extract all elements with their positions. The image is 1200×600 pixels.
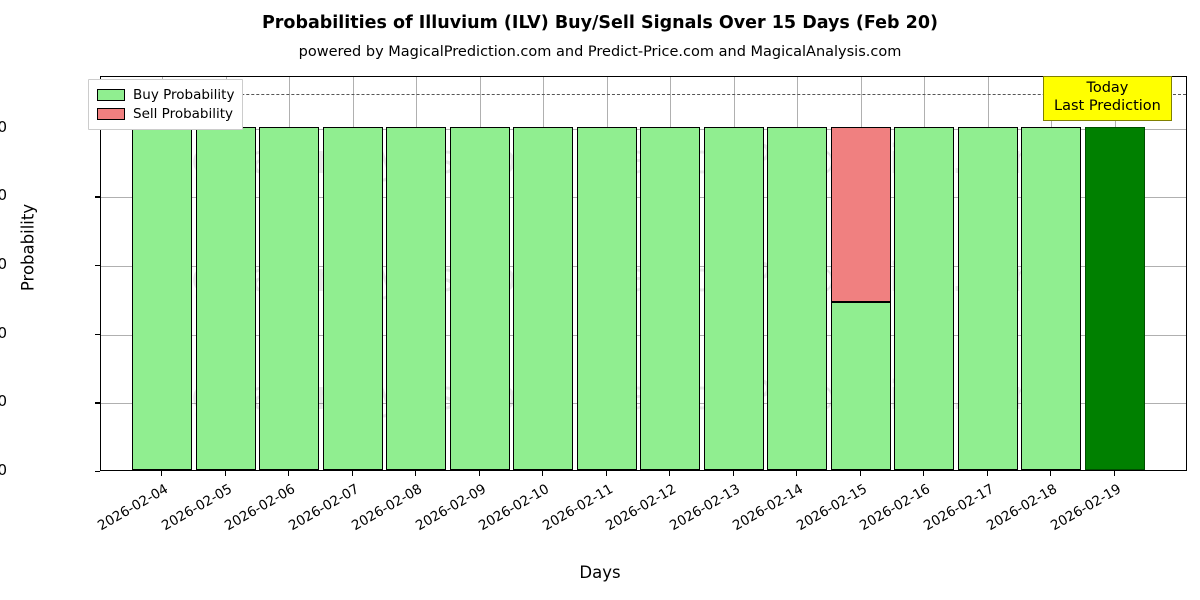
bar-group[interactable] bbox=[1085, 76, 1145, 470]
x-tick-mark bbox=[415, 471, 416, 476]
x-tick-mark bbox=[1114, 471, 1115, 476]
x-tick-mark bbox=[161, 471, 162, 476]
today-annotation-line1: Today bbox=[1054, 80, 1161, 98]
chart-figure: Probabilities of Illuvium (ILV) Buy/Sell… bbox=[0, 0, 1200, 600]
bar-group[interactable] bbox=[132, 76, 192, 470]
y-tick-label: 40 bbox=[0, 324, 7, 342]
x-tick-label: 2026-02-17 bbox=[876, 481, 997, 560]
bar-segment-buy[interactable] bbox=[577, 127, 637, 470]
x-tick-label: 2026-02-18 bbox=[939, 481, 1060, 560]
x-tick-mark bbox=[669, 471, 670, 476]
x-tick-mark bbox=[923, 471, 924, 476]
bar-segment-buy[interactable] bbox=[196, 127, 256, 470]
bar-segment-buy[interactable] bbox=[831, 302, 891, 470]
x-tick-label: 2026-02-13 bbox=[622, 481, 743, 560]
bar-segment-buy[interactable] bbox=[1021, 127, 1081, 470]
x-tick-mark bbox=[860, 471, 861, 476]
chart-legend: Buy ProbabilitySell Probability bbox=[88, 79, 243, 130]
bar-group[interactable] bbox=[640, 76, 700, 470]
bar-segment-buy[interactable] bbox=[640, 127, 700, 470]
x-tick-label: 2026-02-06 bbox=[177, 481, 298, 560]
bar-group[interactable] bbox=[894, 76, 954, 470]
y-tick-label: 100 bbox=[0, 118, 7, 136]
x-tick-label: 2026-02-10 bbox=[431, 481, 552, 560]
x-tick-label: 2026-02-14 bbox=[685, 481, 806, 560]
x-tick-mark bbox=[987, 471, 988, 476]
y-axis-label: Probability bbox=[19, 128, 38, 368]
bar-segment-buy[interactable] bbox=[704, 127, 764, 470]
legend-item[interactable]: Sell Probability bbox=[97, 104, 234, 123]
chart-subtitle: powered by MagicalPrediction.com and Pre… bbox=[0, 44, 1200, 60]
bar-segment-buy[interactable] bbox=[386, 127, 446, 470]
bar-group[interactable] bbox=[386, 76, 446, 470]
x-tick-mark bbox=[542, 471, 543, 476]
bar-segment-buy[interactable] bbox=[958, 127, 1018, 470]
x-tick-label: 2026-02-04 bbox=[50, 481, 171, 560]
y-tick-label: 20 bbox=[0, 392, 7, 410]
x-tick-mark bbox=[796, 471, 797, 476]
bar-segment-buy[interactable] bbox=[767, 127, 827, 470]
bar-segment-today[interactable] bbox=[1085, 127, 1145, 470]
bar-group[interactable] bbox=[450, 76, 510, 470]
today-annotation-line2: Last Prediction bbox=[1054, 98, 1161, 116]
x-axis-label: Days bbox=[0, 563, 1200, 582]
bar-segment-buy[interactable] bbox=[323, 127, 383, 470]
x-tick-label: 2026-02-07 bbox=[241, 481, 362, 560]
bar-group[interactable] bbox=[323, 76, 383, 470]
bar-group[interactable] bbox=[1021, 76, 1081, 470]
x-tick-label: 2026-02-15 bbox=[749, 481, 870, 560]
bar-group[interactable] bbox=[513, 76, 573, 470]
bar-segment-buy[interactable] bbox=[450, 127, 510, 470]
bar-segment-buy[interactable] bbox=[513, 127, 573, 470]
x-tick-mark bbox=[352, 471, 353, 476]
x-tick-label: 2026-02-11 bbox=[495, 481, 616, 560]
x-tick-mark bbox=[225, 471, 226, 476]
y-tick-label: 80 bbox=[0, 186, 7, 204]
legend-label: Sell Probability bbox=[133, 106, 233, 122]
bar-group[interactable] bbox=[767, 76, 827, 470]
legend-item[interactable]: Buy Probability bbox=[97, 85, 234, 104]
chart-title: Probabilities of Illuvium (ILV) Buy/Sell… bbox=[0, 13, 1200, 33]
bar-group[interactable] bbox=[196, 76, 256, 470]
bar-segment-sell[interactable] bbox=[831, 127, 891, 302]
x-tick-label: 2026-02-19 bbox=[1003, 481, 1124, 560]
x-tick-label: 2026-02-08 bbox=[304, 481, 425, 560]
x-tick-mark bbox=[1050, 471, 1051, 476]
threshold-line bbox=[101, 94, 1186, 95]
legend-swatch-icon bbox=[97, 108, 125, 120]
bar-segment-buy[interactable] bbox=[132, 127, 192, 470]
bar-segment-buy[interactable] bbox=[894, 127, 954, 470]
y-tick-mark bbox=[95, 402, 100, 403]
x-tick-mark bbox=[479, 471, 480, 476]
y-tick-mark bbox=[95, 196, 100, 197]
y-tick-label: 60 bbox=[0, 255, 7, 273]
bar-group[interactable] bbox=[958, 76, 1018, 470]
today-annotation: Today Last Prediction bbox=[1043, 76, 1172, 121]
bar-group[interactable] bbox=[577, 76, 637, 470]
x-tick-mark bbox=[606, 471, 607, 476]
y-tick-mark bbox=[95, 265, 100, 266]
x-tick-label: 2026-02-16 bbox=[812, 481, 933, 560]
y-tick-label: 0 bbox=[0, 461, 7, 479]
x-tick-mark bbox=[288, 471, 289, 476]
legend-label: Buy Probability bbox=[133, 87, 234, 103]
y-tick-mark bbox=[95, 334, 100, 335]
legend-swatch-icon bbox=[97, 89, 125, 101]
bar-segment-buy[interactable] bbox=[259, 127, 319, 470]
x-tick-label: 2026-02-09 bbox=[368, 481, 489, 560]
bar-group[interactable] bbox=[704, 76, 764, 470]
y-tick-mark bbox=[95, 471, 100, 472]
bar-group[interactable] bbox=[831, 76, 891, 470]
bar-group[interactable] bbox=[259, 76, 319, 470]
x-tick-label: 2026-02-12 bbox=[558, 481, 679, 560]
x-tick-mark bbox=[733, 471, 734, 476]
plot-area: MagicalAnalysis.comMagicalPrediction.com… bbox=[100, 76, 1187, 471]
x-tick-label: 2026-02-05 bbox=[114, 481, 235, 560]
